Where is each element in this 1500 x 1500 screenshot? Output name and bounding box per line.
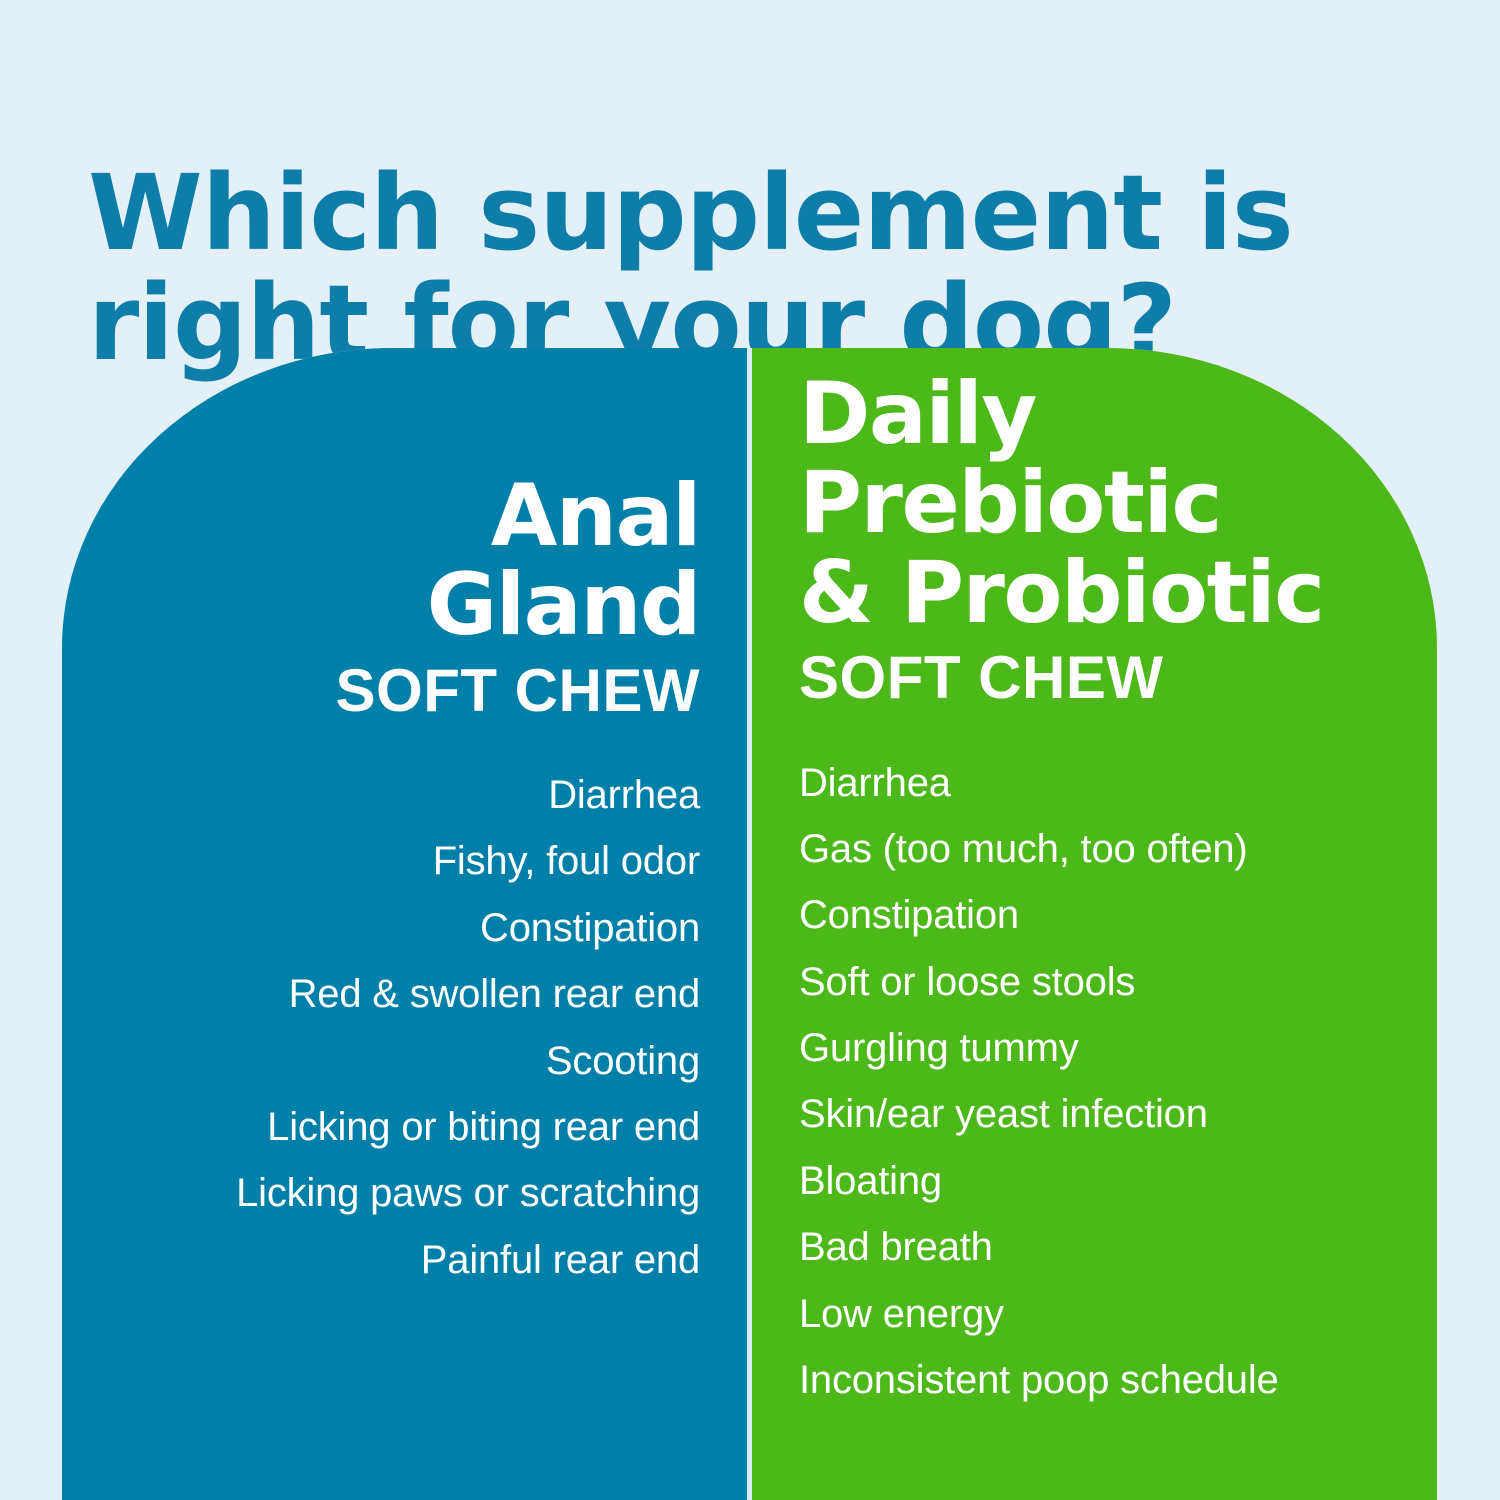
page-title-line-1: Which supplement is [88,158,1268,268]
product-name-prebiotic-probiotic: Daily Prebiotic & Probiotic [799,370,1324,638]
product-form-anal-gland: SOFT CHEW [336,657,700,724]
panel-prebiotic-probiotic: Daily Prebiotic & Probiotic SOFT CHEW Di… [752,348,1437,1500]
list-item: Skin/ear yeast infection [799,1081,1279,1147]
list-item: Inconsistent poop schedule [799,1347,1279,1413]
list-item: Bad breath [799,1214,1279,1280]
product-name-line: Daily [799,370,1324,459]
symptom-list-anal-gland: Diarrhea Fishy, foul odor Constipation R… [236,762,700,1293]
product-name-line: & Probiotic [799,549,1324,638]
product-name-line: Prebiotic [799,459,1324,548]
symptom-list-prebiotic-probiotic: Diarrhea Gas (too much, too often) Const… [799,750,1279,1414]
list-item: Diarrhea [799,750,1279,816]
list-item: Painful rear end [236,1227,700,1293]
panel-anal-gland: Anal Gland SOFT CHEW Diarrhea Fishy, fou… [62,348,747,1500]
list-item: Soft or loose stools [799,949,1279,1015]
list-item: Fishy, foul odor [236,828,700,894]
list-item: Constipation [799,882,1279,948]
product-form-prebiotic-probiotic: SOFT CHEW [799,644,1163,711]
list-item: Licking or biting rear end [236,1094,700,1160]
list-item: Gas (too much, too often) [799,816,1279,882]
list-item: Gurgling tummy [799,1015,1279,1081]
comparison-panels: Anal Gland SOFT CHEW Diarrhea Fishy, fou… [62,348,1437,1500]
page-title: Which supplement is right for your dog? [88,158,1268,378]
list-item: Scooting [236,1028,700,1094]
list-item: Licking paws or scratching [236,1160,700,1226]
list-item: Red & swollen rear end [236,961,700,1027]
list-item: Constipation [236,895,700,961]
product-name-line: Anal [427,472,700,561]
list-item: Low energy [799,1281,1279,1347]
product-name-line: Gland [427,561,700,650]
list-item: Diarrhea [236,762,700,828]
product-name-anal-gland: Anal Gland [427,472,700,651]
list-item: Bloating [799,1148,1279,1214]
